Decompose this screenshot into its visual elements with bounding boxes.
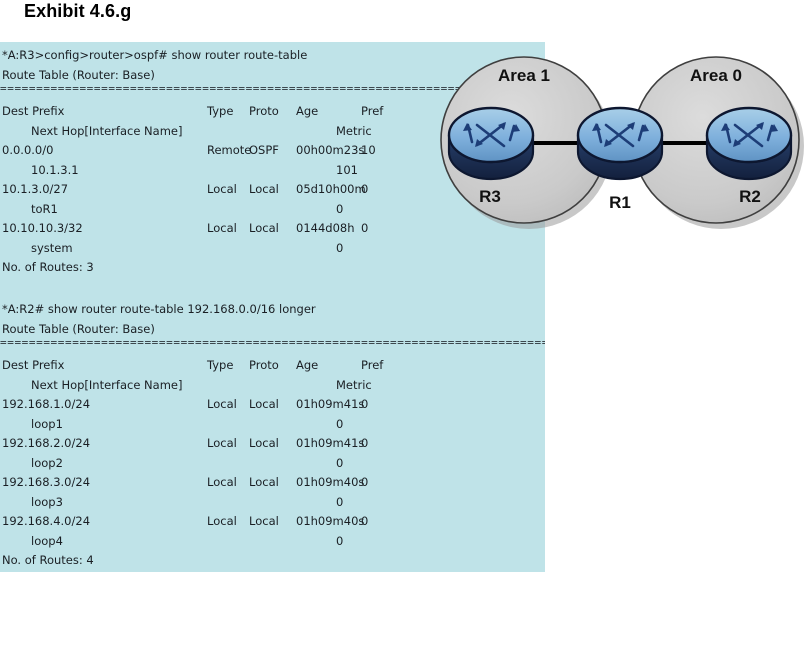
table-row: 192.168.1.0/24 Local Local 01h09m41s 0: [0, 395, 545, 415]
cell-metric: 0: [336, 454, 343, 474]
cli-prompt-text: *A:R3>config>router>ospf# show router ro…: [2, 46, 307, 66]
cell-metric: 0: [336, 415, 343, 435]
cell-dest-prefix: 192.168.4.0/24: [2, 512, 90, 532]
cell-pref: 0: [361, 219, 368, 239]
cell-type: Local: [207, 473, 237, 493]
column-header-age: Age: [296, 356, 318, 376]
cell-next-hop: system: [31, 239, 73, 259]
cell-age: 05d10h00m: [296, 180, 366, 200]
route-table-caption-text: Route Table (Router: Base): [2, 66, 155, 86]
cell-next-hop: toR1: [31, 200, 58, 220]
route-count-text: No. of Routes: 4: [2, 551, 94, 571]
table-row-continuation: loop2 0: [0, 454, 545, 474]
cell-proto: Local: [249, 219, 279, 239]
table-row: 192.168.3.0/24 Local Local 01h09m40s 0: [0, 473, 545, 493]
cli-prompt-text: *A:R2# show router route-table 192.168.0…: [2, 300, 316, 320]
separator-text: ========================================…: [0, 339, 545, 349]
route-count-text: No. of Routes: 3: [2, 258, 94, 278]
cell-proto: Local: [249, 473, 279, 493]
cell-proto: Local: [249, 434, 279, 454]
cell-next-hop: loop3: [31, 493, 63, 513]
table-subheader-row-2: Next Hop[Interface Name] Metric: [0, 376, 545, 396]
cell-metric: 0: [336, 532, 343, 552]
router-r1-icon: [578, 108, 662, 179]
cell-dest-prefix: 10.1.3.0/27: [2, 180, 68, 200]
route-table-block-2: *A:R2# show router route-table 192.168.0…: [0, 300, 545, 571]
cell-type: Local: [207, 512, 237, 532]
cell-metric: 0: [336, 493, 343, 513]
column-header-metric: Metric: [336, 376, 372, 396]
route-count-footer-1: No. of Routes: 3: [0, 258, 545, 278]
column-header-metric: Metric: [336, 122, 372, 142]
column-header-type: Type: [207, 356, 233, 376]
table-row-continuation: loop1 0: [0, 415, 545, 435]
column-header-proto: Proto: [249, 102, 279, 122]
cell-next-hop: loop4: [31, 532, 63, 552]
column-header-proto: Proto: [249, 356, 279, 376]
table-row-continuation: loop4 0: [0, 532, 545, 552]
cell-pref: 0: [361, 395, 368, 415]
cell-pref: 0: [361, 512, 368, 532]
cell-type: Local: [207, 219, 237, 239]
router-r3-label: R3: [479, 187, 501, 206]
cli-prompt-line-2: *A:R2# show router route-table 192.168.0…: [0, 300, 545, 320]
router-r1-label: R1: [609, 193, 631, 212]
cell-dest-prefix: 192.168.1.0/24: [2, 395, 90, 415]
cell-pref: 0: [361, 434, 368, 454]
cell-next-hop: 10.1.3.1: [31, 161, 79, 181]
cell-pref: 0: [361, 473, 368, 493]
column-header-type: Type: [207, 102, 233, 122]
cell-next-hop: loop2: [31, 454, 63, 474]
cell-age: 01h09m41s: [296, 434, 364, 454]
cell-metric: 101: [336, 161, 358, 181]
router-r2-label: R2: [739, 187, 761, 206]
cell-proto: OSPF: [249, 141, 279, 161]
route-count-footer-2: No. of Routes: 4: [0, 551, 545, 571]
table-header-row-2: Dest Prefix Type Proto Age Pref: [0, 356, 545, 376]
cell-age: 01h09m41s: [296, 395, 364, 415]
separator-rule-2: ========================================…: [0, 339, 545, 356]
column-header-pref: Pref: [361, 102, 383, 122]
network-topology-diagram: Area 1 Area 0 R3 R1 R2: [420, 30, 811, 245]
column-header-age: Age: [296, 102, 318, 122]
table-row: 192.168.4.0/24 Local Local 01h09m40s 0: [0, 512, 545, 532]
cell-dest-prefix: 192.168.3.0/24: [2, 473, 90, 493]
table-row-continuation: loop3 0: [0, 493, 545, 513]
cell-dest-prefix: 10.10.10.3/32: [2, 219, 83, 239]
router-r3-icon: [449, 108, 533, 179]
cell-age: 00h00m23s: [296, 141, 364, 161]
cell-proto: Local: [249, 395, 279, 415]
cell-type: Local: [207, 180, 237, 200]
cell-age: 01h09m40s: [296, 512, 364, 532]
cell-next-hop: loop1: [31, 415, 63, 435]
cell-age: 01h09m40s: [296, 473, 364, 493]
cell-dest-prefix: 0.0.0.0/0: [2, 141, 53, 161]
route-table-caption-2: Route Table (Router: Base): [0, 320, 545, 340]
cell-pref: 0: [361, 180, 368, 200]
area-1-label: Area 1: [498, 66, 550, 85]
cell-pref: 10: [361, 141, 376, 161]
cell-metric: 0: [336, 239, 343, 259]
cell-dest-prefix: 192.168.2.0/24: [2, 434, 90, 454]
cell-proto: Local: [249, 512, 279, 532]
column-header-next-hop: Next Hop[Interface Name]: [31, 376, 182, 396]
cell-type: Local: [207, 434, 237, 454]
router-r2-icon: [707, 108, 791, 179]
column-header-dest-prefix: Dest Prefix: [2, 102, 64, 122]
column-header-next-hop: Next Hop[Interface Name]: [31, 122, 182, 142]
table-row: 192.168.2.0/24 Local Local 01h09m41s 0: [0, 434, 545, 454]
route-table-caption-text: Route Table (Router: Base): [2, 320, 155, 340]
cell-type: Remote: [207, 141, 251, 161]
area-0-label: Area 0: [690, 66, 742, 85]
cell-type: Local: [207, 395, 237, 415]
column-header-dest-prefix: Dest Prefix: [2, 356, 64, 376]
cell-metric: 0: [336, 200, 343, 220]
cell-proto: Local: [249, 180, 279, 200]
cell-age: 0144d08h: [296, 219, 355, 239]
page-title: Exhibit 4.6.g: [24, 1, 131, 22]
column-header-pref: Pref: [361, 356, 383, 376]
